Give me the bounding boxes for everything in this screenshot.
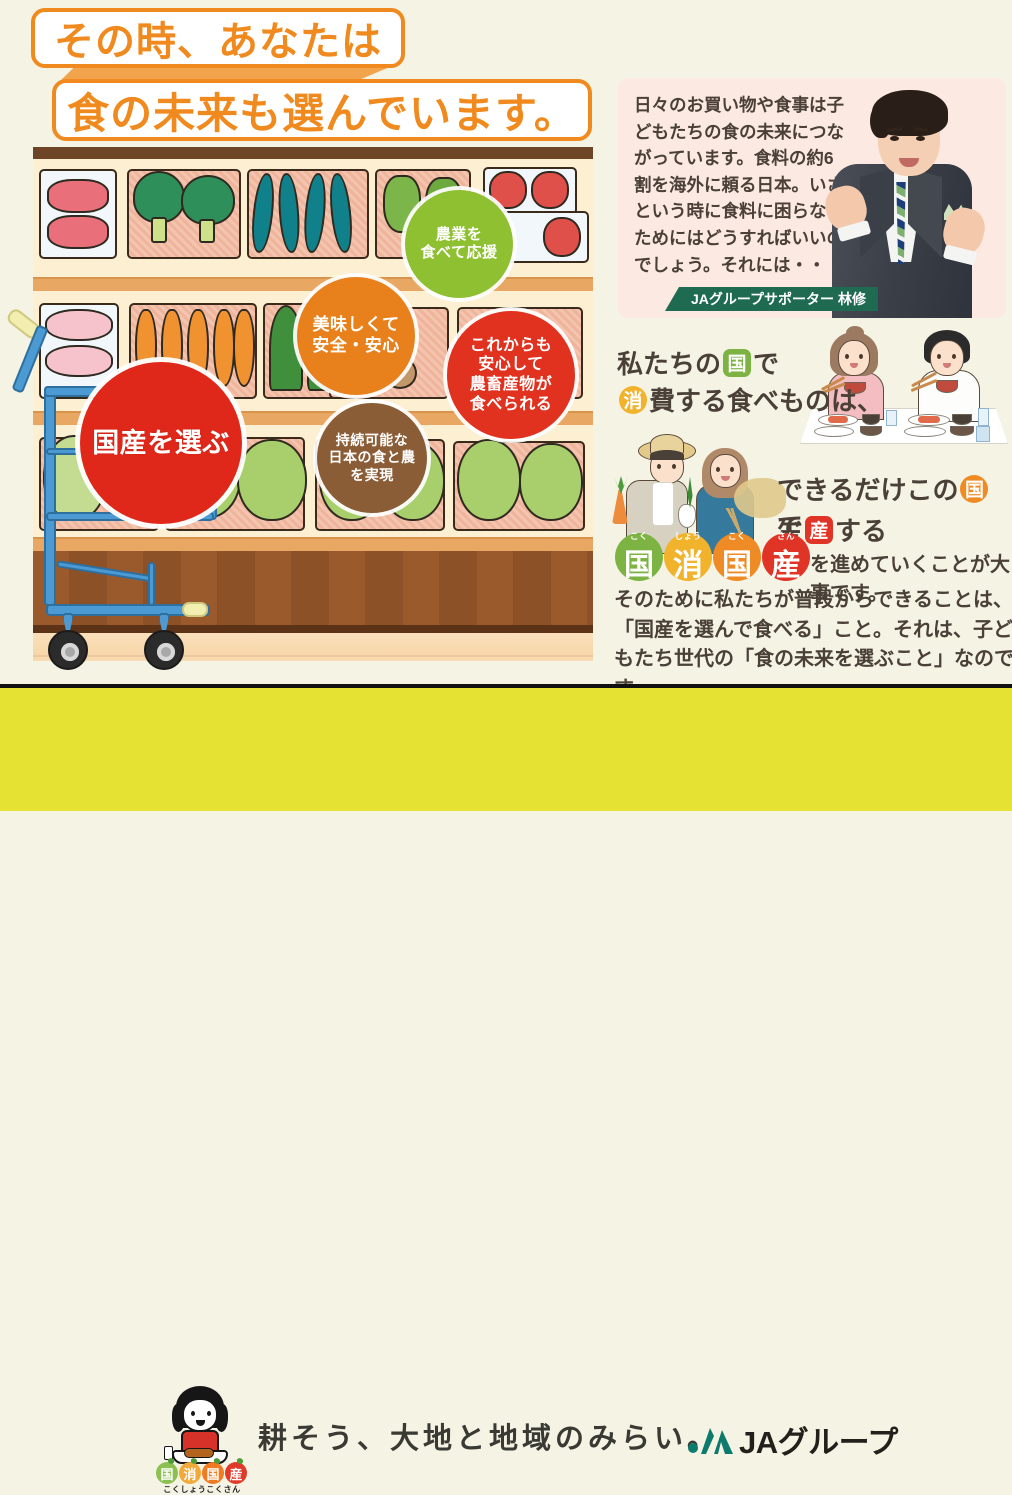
kokusho-mascot-logo: 国 消 国 産 こくしょうこくさん [148,1384,252,1488]
headline-bubble-line2: 食の未来も選んでいます。 [52,79,592,141]
farmer-male-hair [650,450,684,460]
figure-hair-side [870,104,890,138]
kokusho-badge-4: さん 産 [762,533,810,581]
figure-eye-left [890,136,899,141]
supporter-name-text: JAグループサポーター 林修 [691,289,866,309]
woman-small-bowl [860,426,882,436]
cart-left-upright [44,386,56,606]
woman-eye-left [845,354,849,359]
shelf-ledge-1 [33,277,593,291]
line1-prefix: 私たちの [617,349,721,379]
badge-green-line2: 食べて応援 [421,244,498,261]
broccoli-stem-2 [199,219,215,243]
mid-copy-line-2: 消費する食べものは、 [617,381,883,418]
badge-red-line4: 食べられる [470,396,553,413]
man-glass [978,408,989,426]
mascot-badge-2: 消 [179,1462,201,1484]
ja-group-text: JAグループ [739,1417,898,1462]
kokusho-badge-2-ruby: しょう [664,532,712,541]
mascot-badge-1: 国 [156,1462,178,1484]
cart-lower-shelf-rail [56,560,156,583]
woman-glass [886,410,897,426]
cabbage-5 [457,439,521,521]
man-eye-right [952,354,956,359]
woman-head [838,340,870,376]
farmer-male-eye-right [672,464,676,469]
beef-slice-1 [47,179,109,213]
mascot-food [184,1448,214,1458]
badge-red-line2: 安心して [478,356,544,373]
kokusho-badge-4-ruby: さん [762,532,810,541]
line2-suffix: 費する食べものは、 [649,386,883,416]
line1-suffix: で [753,349,779,379]
badge-main-text: 国産を選ぶ [92,427,230,460]
kanji-badge-koku-green: 国 [723,349,751,377]
badge-brown-line3: を実現 [350,467,394,483]
woman-eye-right [859,354,863,359]
badge-red-line3: 農畜産物が [470,376,553,393]
cart-lower-shelf-post [148,562,155,606]
woman-plate-side [814,426,854,437]
kokusho-badge-2-char: 消 [673,540,703,584]
badge-brown-line1: 持続可能な [336,432,409,448]
man-head [930,340,964,376]
farmer-female-eye-left [716,467,720,472]
mascot-caption: こくしょうこくさん [152,1484,252,1495]
farmer-female-eye-right [730,467,734,472]
kokusho-badge-4-char: 産 [771,540,801,584]
badge-orange-line2: 安全・安心 [312,336,400,355]
man-rice-bowl [936,380,958,393]
badge-brown-line2: 日本の食と農 [329,449,416,465]
broccoli-2 [181,175,235,225]
line3-prefix: できるだけこの [777,475,958,505]
kokusho-kokusan-badge-row: こく 国 しょう 消 こく 国 さん 産 [615,533,811,581]
kanji-badge-shou-yellow: 消 [619,386,647,414]
supporter-name-tag: JAグループサポーター 林修 [665,287,878,311]
farmer-female-head [710,454,741,488]
mascot-face [182,1398,218,1432]
man-soup-bowl [952,414,972,425]
kokusho-badge-3-char: 国 [722,540,752,584]
kanji-badge-koku-orange: 国 [960,475,988,503]
hayashi-osamu-photo [804,78,1000,318]
ja-logo-mark [688,1426,734,1454]
headline-line1-text: その時、あなたは [54,9,382,67]
farmer-male-towel [652,482,674,526]
shelf-top-wood [33,147,593,159]
man-eye-left [937,354,941,359]
woman-hair-bun [846,326,864,340]
banner-tagline: 耕そう、大地と地域のみらい。 [258,1415,720,1457]
headline-bubble-line1: その時、あなたは [31,8,405,68]
kokusho-badge-3: こく 国 [713,533,761,581]
badge-choose-domestic: 国産を選ぶ [80,362,242,524]
man-fish [918,416,940,423]
mascot-eye-left [191,1411,195,1416]
bottom-banner: 国 消 国 産 こくしょうこくさん 耕そう、大地と地域のみらい。 JAグループ [0,688,1012,811]
mascot-badge-row: 国 消 国 産 [156,1462,248,1484]
mascot-eye-right [207,1411,211,1416]
ja-group-logo: JAグループ [688,1417,898,1462]
mid-copy-line-1: 私たちの国で [617,344,779,381]
kokusho-badge-1-ruby: こく [615,532,663,541]
man-small-bowl [950,426,974,436]
farmer-male-eye-left [657,464,661,469]
mascot-badge-3: 国 [202,1462,224,1484]
mascot-badge-4: 産 [225,1462,247,1484]
badge-green-line1: 農業を [436,226,483,243]
figure-eye-right [916,136,925,141]
headline-line2-text: 食の未来も選んでいます。 [67,80,577,141]
badge-tasty-safe: 美味しくて 安全・安心 [297,277,415,395]
badge-red-line1: これからも [470,337,553,354]
kokusho-badge-2: しょう 消 [664,533,712,581]
daikon-held [678,504,696,528]
kokusho-badge-1: こく 国 [615,533,663,581]
supporter-quote-card: 日々のお買い物や食事は子どもたちの食の未来につながっています。食料の約6割を海外… [618,78,1006,318]
poster-root: その時、あなたは 食の未来も選んでいます。 [0,0,1012,811]
kokusho-badge-3-ruby: こく [713,532,761,541]
man-milk-carton [976,426,990,442]
badge-support-agriculture: 農業を 食べて応援 [405,190,513,298]
tomato-4 [543,217,581,257]
broccoli-stem-1 [151,217,167,243]
badge-sustainable-japan: 持続可能な 日本の食と農 を実現 [317,403,427,513]
beef-slice-2 [47,215,109,249]
cart-wheel-right [144,630,184,670]
cabbage-6 [519,443,583,521]
tomato-2 [531,171,569,209]
man-plate-side [904,426,946,437]
kokusho-badge-1-char: 国 [624,540,654,584]
badge-orange-line1: 美味しくて [313,315,400,334]
badge-future-safe-food: これからも 安心して 農畜産物が 食べられる [447,311,575,439]
cart-base-grip [182,602,208,617]
broccoli-1 [133,171,185,223]
line4-suffix: する [835,516,887,546]
cart-wheel-left [48,630,88,670]
